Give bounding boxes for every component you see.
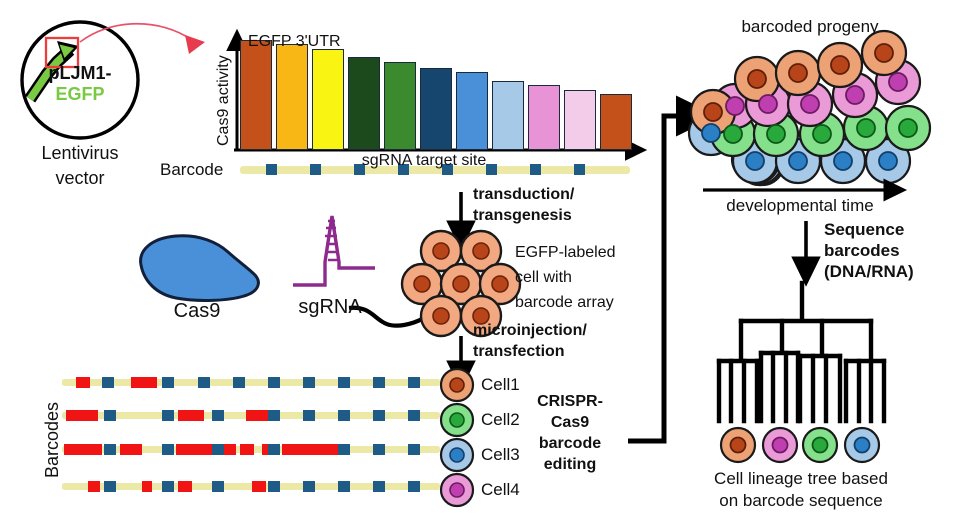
barcode-row [62,481,440,492]
bar-chart-bar [348,57,380,150]
chart-xlabel: sgRNA target site [362,152,487,170]
bar-chart-bar [528,85,560,150]
embryo-caption-line2: cell with [515,269,572,287]
sgrna-icon [293,216,375,285]
chart-title: EGFP 3'UTR [248,33,341,51]
tree-leaf-cells [721,428,879,462]
barcode-row [62,377,440,388]
plasmid-caption-line1: Lentivirus [41,143,118,163]
plasmid-caption-line2: vector [55,168,104,188]
bar-chart-bar [456,72,488,150]
cell-legend-graphic [441,369,473,506]
barcode-row [62,410,440,421]
bar-chart-bar [564,90,596,150]
transduction-label-line2: transgenesis [473,207,572,225]
bar-chart-bar [420,68,452,150]
barcode-strip-label: Barcode [160,160,223,179]
microinjection-label-line2: transfection [473,343,565,361]
bar-chart-bar [312,49,344,150]
developmental-time-label: developmental time [726,196,873,215]
crispr-label-line3: barcode [539,435,601,453]
bar-chart-bar [600,94,632,150]
plasmid-name-line2: EGFP [55,84,104,104]
microinjection-label-line1: microinjection/ [473,322,587,340]
cell-legend-label: Cell1 [481,375,520,394]
embryo-caption-line3: barcode array [515,294,614,312]
cas9-protein-icon [141,236,259,301]
bar-chart-bar [492,81,524,150]
cas9-label: Cas9 [174,300,221,322]
barcoded-progeny-cluster [689,31,930,185]
crispr-label-line1: CRISPR- [537,393,603,411]
cell-legend-label: Cell3 [481,445,520,464]
lineage-tree-graphic [719,283,884,421]
bar-chart-bars [240,42,632,150]
embryo-caption-line1: EGFP-labeled [515,244,616,262]
cell-legend-label: Cell4 [481,480,520,499]
plasmid-to-chart-arrowhead [185,35,205,54]
barcodes-to-progeny-connector [628,116,692,441]
diagram-canvas: pLJM1- EGFP Lentivirus vector EGFP 3'UTR… [0,0,960,514]
tree-caption-line1: Cell lineage tree based [714,469,888,488]
crispr-label-line4: editing [544,456,596,474]
plasmid-name-line1: pLJM1- [49,63,112,83]
barcodes-axis-label: Barcodes [42,402,62,478]
barcodes-panel-graphic [62,377,440,492]
bar-chart-bar [384,62,416,150]
sgrna-label: sgRNA [298,296,361,318]
transduction-label-line1: transduction/ [473,186,574,204]
progeny-title: barcoded progeny [741,17,878,36]
sequence-label-line1: Sequence [824,220,904,239]
cell-legend-label: Cell2 [481,410,520,429]
crispr-label-line2: Cas9 [551,414,589,432]
sequence-label-line2: barcodes [824,241,900,260]
bar-chart-bar [240,40,272,150]
chart-ylabel: Cas9 activity [215,55,233,146]
bar-chart-bar [276,44,308,150]
sequence-label-line3: (DNA/RNA) [824,262,914,281]
tree-caption-line2: on barcode sequence [719,491,883,510]
barcode-row [62,444,440,455]
